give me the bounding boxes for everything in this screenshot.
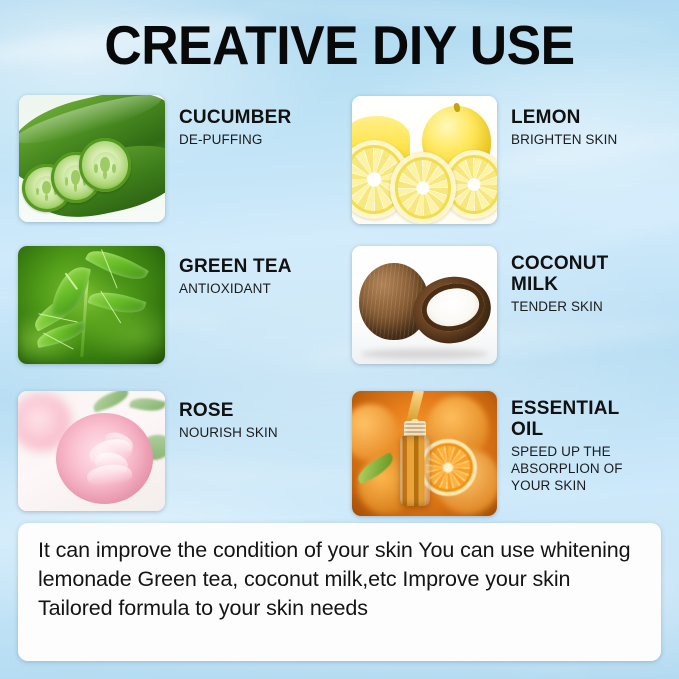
item-title: GREEN TEA [179, 256, 344, 277]
green-tea-photo [18, 246, 165, 364]
item-benefit: DE-PUFFING [179, 131, 339, 148]
rose-photo [18, 391, 165, 511]
coconut-photo [352, 246, 497, 364]
description-text: It can improve the condition of your ski… [38, 536, 644, 623]
item-benefit: TENDER SKIN [511, 298, 651, 315]
infographic-page: CREATIVE DIY USE CUCUMBER DE-PUFFING [0, 0, 679, 679]
description-box: It can improve the condition of your ski… [18, 523, 661, 661]
item-title: ESSENTIAL OIL [511, 398, 651, 440]
lemon-photo [352, 96, 497, 224]
item-title: ROSE [179, 400, 344, 421]
page-title: CREATIVE DIY USE [20, 16, 658, 74]
item-benefit: BRIGHTEN SKIN [511, 131, 671, 148]
cucumber-photo [19, 95, 165, 222]
item-title: CUCUMBER [179, 107, 339, 128]
item-benefit: ANTIOXIDANT [179, 280, 344, 297]
item-title: LEMON [511, 107, 671, 128]
item-benefit: SPEED UP THE ABSORPLION OF YOUR SKIN [511, 443, 651, 494]
item-benefit: NOURISH SKIN [179, 424, 344, 441]
essential-oil-photo [352, 391, 497, 516]
item-title: COCONUT MILK [511, 253, 651, 295]
